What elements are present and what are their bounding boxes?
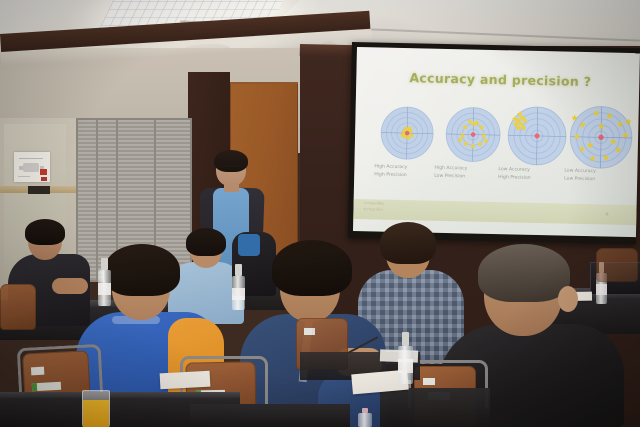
slide-footer-text-line1: การสอบเทียบ: [364, 201, 385, 206]
attendee-ear: [558, 286, 578, 312]
attendee-hair: [104, 244, 180, 296]
table-foreground-center: [190, 404, 350, 427]
target-low-accuracy-high-precision: [506, 105, 567, 166]
water-bottle: [398, 332, 413, 384]
target-high-accuracy-low-precision-label: High AccuracyLow Precision: [434, 165, 467, 181]
slide-footer-text-line2: ความถูกต้อง: [363, 207, 383, 212]
table-center-right: [380, 388, 490, 427]
label-precision: High Precision: [498, 174, 531, 182]
evacuation-map-poster: [14, 152, 50, 182]
label-precision: Low Precision: [434, 172, 467, 180]
water-bottle: [98, 258, 111, 306]
label-accuracy: High Accuracy: [374, 163, 407, 171]
door-push-plate[interactable]: [28, 186, 50, 194]
juice-liquid: [83, 400, 109, 427]
glasses-icon: [218, 166, 244, 173]
orange-juice-glass: [82, 390, 110, 427]
label-accuracy: Low Accuracy: [564, 168, 596, 176]
target-diagram-row: [368, 99, 631, 171]
label-precision: High Precision: [374, 171, 407, 179]
attendee-hair: [478, 244, 570, 302]
chair-back[interactable]: [596, 248, 638, 282]
projection-screen[interactable]: Accuracy and precision ? High AccuracyHi…: [353, 47, 640, 237]
notepaper: [160, 371, 211, 390]
target-high-accuracy-high-precision-label: High AccuracyHigh Precision: [374, 163, 407, 179]
wood-panel-edge: [230, 82, 298, 84]
slide-footer-bullet-icon: [605, 212, 608, 215]
target-high-accuracy-high-precision: [380, 106, 435, 161]
label-accuracy: High Accuracy: [434, 165, 467, 173]
water-bottle: [358, 408, 372, 427]
conference-room-photo: Accuracy and precision ? High AccuracyHi…: [0, 0, 640, 427]
target-low-accuracy-low-precision-label: Low AccuracyLow Precision: [564, 168, 596, 184]
attendee-hair: [272, 240, 352, 296]
label-precision: Low Precision: [564, 175, 596, 183]
table-foreground-left-edge: [0, 392, 240, 398]
water-bottle: [232, 264, 245, 310]
label-accuracy: Low Accuracy: [498, 166, 531, 174]
attendee-hair: [25, 219, 65, 245]
chair-back[interactable]: [0, 284, 36, 330]
target-low-accuracy-low-precision: [568, 105, 633, 170]
target-low-accuracy-high-precision-label: Low AccuracyHigh Precision: [498, 166, 531, 182]
target-high-accuracy-low-precision: [445, 106, 502, 163]
chair-asset-tag: [304, 328, 315, 335]
